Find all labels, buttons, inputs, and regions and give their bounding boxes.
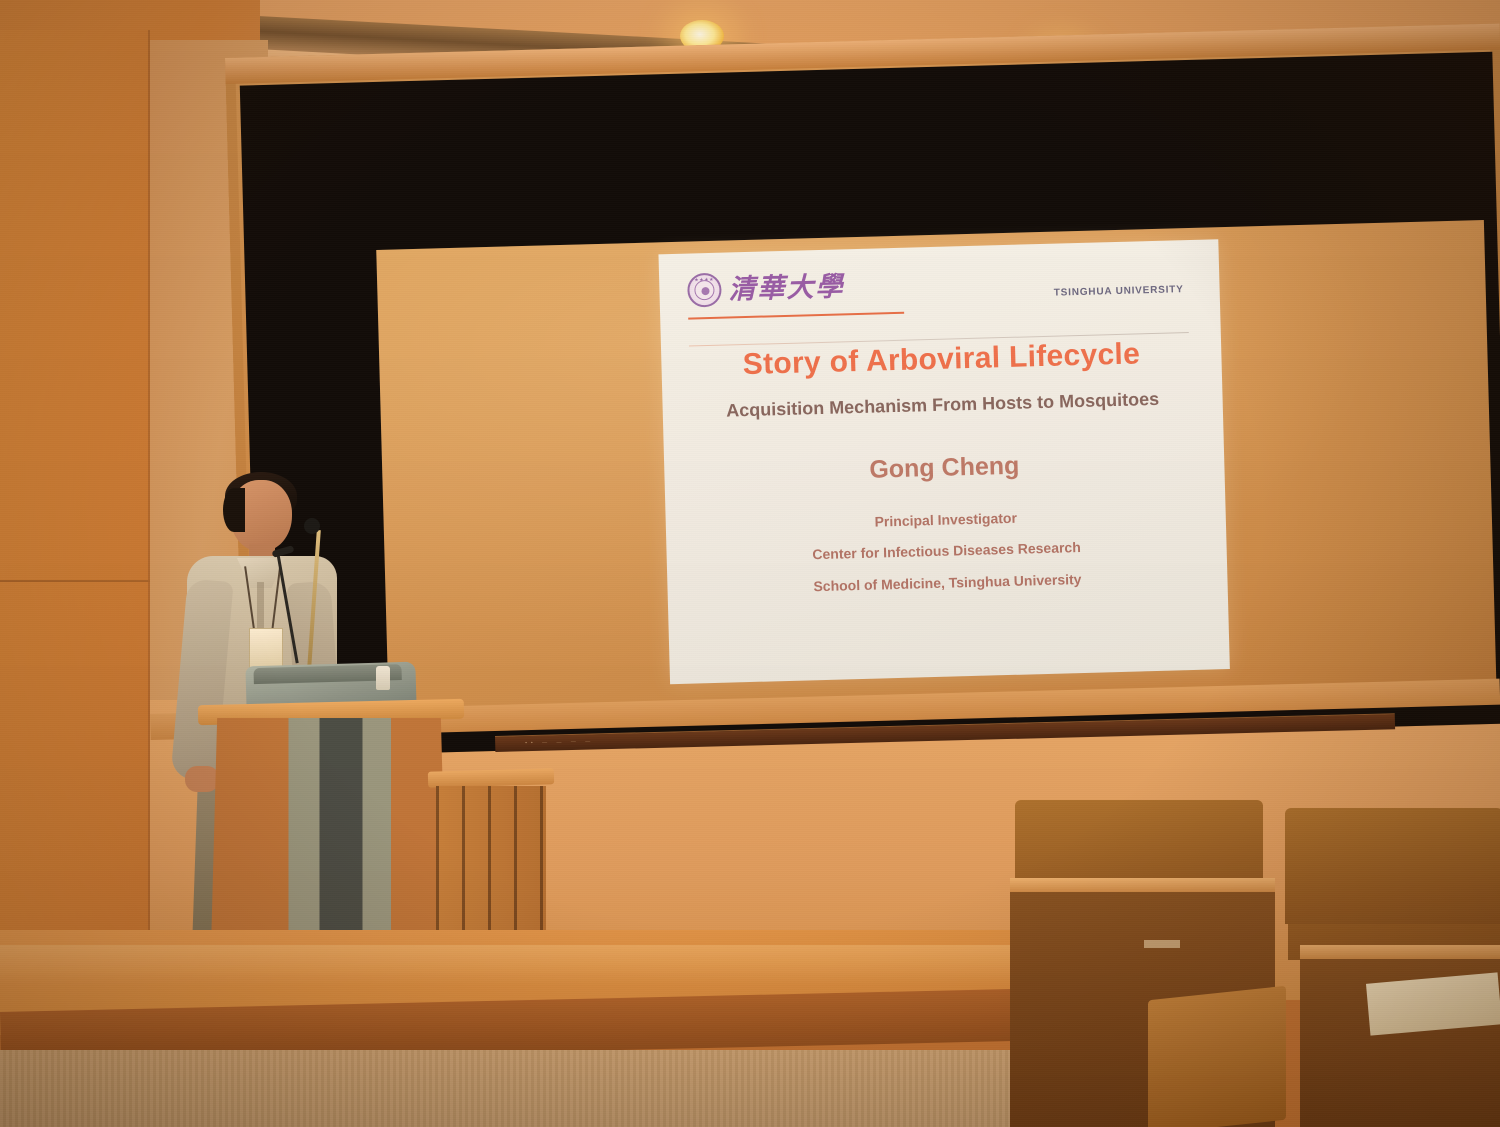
- audience-desk-1-top: [1010, 878, 1275, 892]
- audience-seat-1: [1148, 986, 1286, 1127]
- projection-screen: ★★★★ 清華大學 TSINGHUA UNIVERSITY Story of A…: [376, 220, 1497, 730]
- auditorium-scene: ★★★★ 清華大學 TSINGHUA UNIVERSITY Story of A…: [0, 0, 1500, 1127]
- water-bottle: [376, 666, 390, 690]
- side-table-top: [428, 768, 554, 788]
- logo-underline-rule: [688, 312, 904, 320]
- audience-desk-1-nameplate: [1144, 940, 1180, 948]
- left-wall-seam: [0, 580, 152, 582]
- slide-subtitle: Acquisition Mechanism From Hosts to Mosq…: [676, 387, 1208, 422]
- wall-slot-markings: •• — — — —: [525, 738, 594, 746]
- side-table: [428, 770, 554, 955]
- carpet-texture: [0, 1050, 1030, 1127]
- seal-stars: ★★★★: [689, 277, 719, 284]
- slide-affiliation: Principal Investigator Center for Infect…: [679, 497, 1213, 606]
- slide-body: Story of Arboviral Lifecycle Acquisition…: [661, 335, 1228, 606]
- black-curtain-border: ★★★★ 清華大學 TSINGHUA UNIVERSITY Story of A…: [240, 52, 1500, 758]
- side-table-slats: [436, 786, 546, 944]
- slide-header: ★★★★ 清華大學 TSINGHUA UNIVERSITY: [681, 254, 1198, 330]
- side-table-body: [436, 786, 546, 944]
- left-wall-panel: [0, 30, 150, 960]
- gooseneck-microphone-head: [304, 518, 320, 534]
- audience-desk-3: [1300, 945, 1500, 1127]
- audience-desk-2-back-panel: [1285, 808, 1500, 924]
- audience-desk-3-top: [1300, 945, 1500, 959]
- stage-floor-reflection: [0, 945, 1020, 985]
- university-name-chinese: 清華大學: [728, 273, 845, 303]
- presentation-slide: ★★★★ 清華大學 TSINGHUA UNIVERSITY Story of A…: [658, 239, 1229, 684]
- proscenium-frame: ★★★★ 清華大學 TSINGHUA UNIVERSITY Story of A…: [225, 24, 1500, 758]
- house-floor-carpet: [0, 1050, 1030, 1127]
- slide-speaker-name: Gong Cheng: [678, 446, 1211, 489]
- tsinghua-seal-icon: ★★★★: [687, 273, 722, 308]
- presenter-hair-side: [223, 488, 245, 532]
- university-name-english: TSINGHUA UNIVERSITY: [1054, 284, 1184, 299]
- tsinghua-logo: ★★★★ 清華大學: [687, 269, 845, 307]
